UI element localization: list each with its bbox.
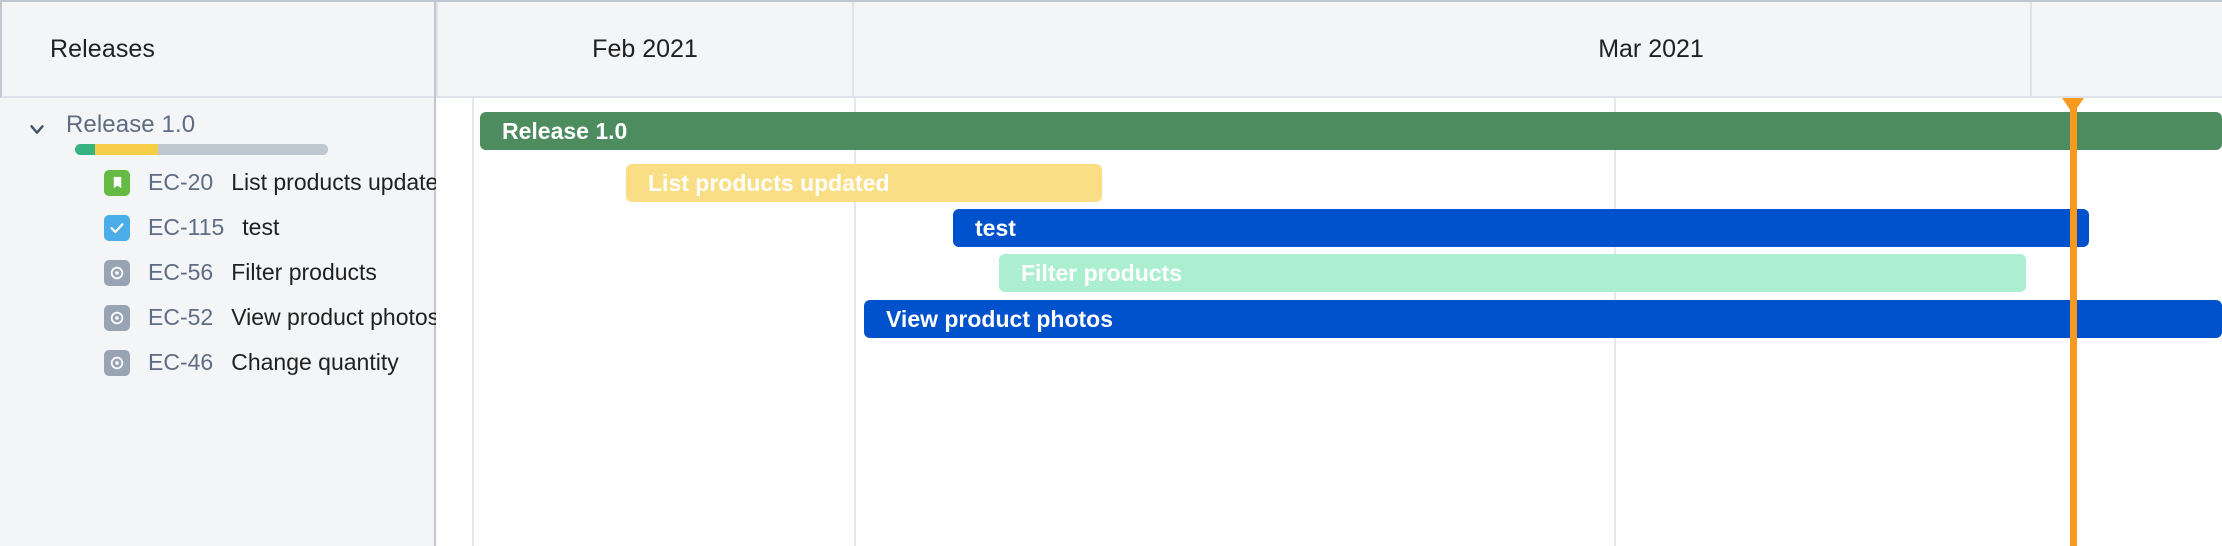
story-icon <box>104 170 130 196</box>
issue-summary-label[interactable]: List products updated <box>231 169 451 196</box>
page-title: Releases <box>50 35 155 64</box>
gantt-bar[interactable]: Filter products <box>999 254 2026 292</box>
timeline-month-header: Feb 2021Mar 2021Apr 2021 <box>436 0 2222 98</box>
epic-icon <box>104 260 130 286</box>
month-header-cell: Feb 2021 <box>436 2 854 96</box>
sidebar-header: Releases <box>0 0 434 98</box>
issue-row[interactable]: EC-115test <box>0 205 434 250</box>
issue-row[interactable]: EC-56Filter products <box>0 250 434 295</box>
issue-key-label[interactable]: EC-56 <box>148 259 213 286</box>
today-line <box>2070 98 2077 546</box>
issue-row[interactable]: EC-52View product photos <box>0 295 434 340</box>
issue-key-label[interactable]: EC-115 <box>148 214 224 241</box>
issue-key-label[interactable]: EC-20 <box>148 169 213 196</box>
epic-icon <box>104 350 130 376</box>
issue-row[interactable]: EC-20List products updated <box>0 160 434 205</box>
gantt-bar[interactable]: View product photos <box>864 300 2222 338</box>
gantt-bar[interactable]: test <box>953 209 2089 247</box>
epic-icon <box>104 305 130 331</box>
release-name-label[interactable]: Release 1.0 <box>66 110 195 140</box>
gantt-bar[interactable]: List products updated <box>626 164 1102 202</box>
today-marker-icon <box>2062 98 2084 114</box>
progress-segment-todo <box>158 144 328 155</box>
issue-key-label[interactable]: EC-46 <box>148 349 213 376</box>
releases-sidebar: Releases Release 1.0 EC-20List products … <box>0 0 436 546</box>
timeline-panel: Feb 2021Mar 2021Apr 2021 Release 1.0List… <box>436 0 2222 546</box>
issue-summary-label[interactable]: Filter products <box>231 259 377 286</box>
issue-summary-label[interactable]: test <box>242 214 279 241</box>
sidebar-body: Release 1.0 EC-20List products updatedEC… <box>0 98 434 385</box>
progress-segment-inprogress <box>95 144 158 155</box>
issue-summary-label[interactable]: Change quantity <box>231 349 399 376</box>
gantt-timeline-app: Releases Release 1.0 EC-20List products … <box>0 0 2222 546</box>
timeline-chart-area[interactable]: Release 1.0List products updatedtestFilt… <box>436 98 2222 546</box>
progress-segment-done <box>75 144 95 155</box>
issue-list: EC-20List products updatedEC-115testEC-5… <box>0 160 434 385</box>
gantt-bar[interactable]: Release 1.0 <box>480 112 2222 150</box>
release-row[interactable]: Release 1.0 <box>0 98 434 160</box>
month-header-cell: Mar 2021 <box>1272 2 2032 96</box>
issue-summary-label[interactable]: View product photos <box>231 304 439 331</box>
month-header-label: Mar 2021 <box>1598 35 1704 64</box>
timeline-gridline <box>472 98 474 546</box>
month-header-label: Feb 2021 <box>592 35 698 64</box>
issue-key-label[interactable]: EC-52 <box>148 304 213 331</box>
release-progress-bar <box>75 144 328 155</box>
chevron-down-icon[interactable] <box>24 116 50 142</box>
issue-row[interactable]: EC-46Change quantity <box>0 340 434 385</box>
task-icon <box>104 215 130 241</box>
